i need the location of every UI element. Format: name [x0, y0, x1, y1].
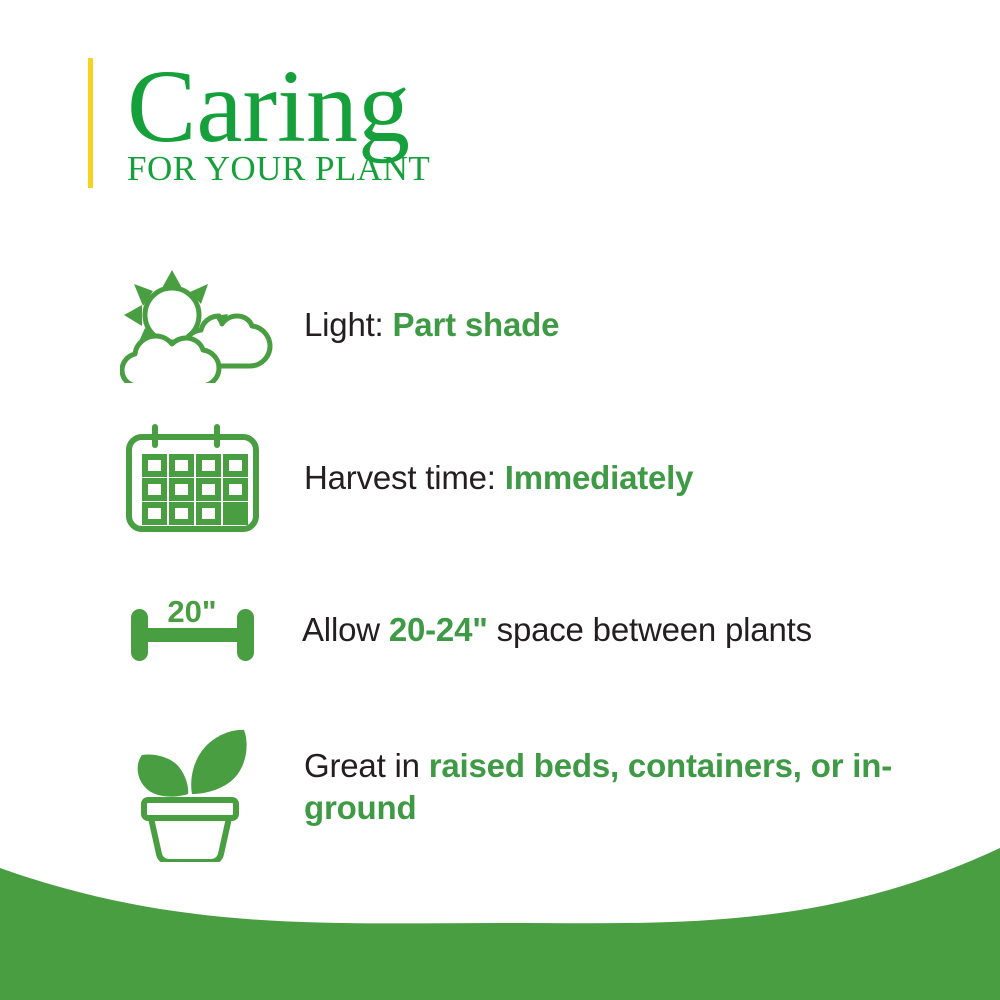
care-row-harvest: Harvest time: Immediately: [120, 423, 693, 533]
care-row-light: Light: Part shade: [120, 268, 559, 383]
calendar-highlighted-day: [226, 505, 245, 522]
light-label: Light:: [304, 306, 393, 343]
header: Caring FOR YOUR PLANT: [88, 58, 430, 188]
care-row-spacing-text: Allow 20-24" space between plants: [302, 609, 812, 651]
care-row-harvest-text: Harvest time: Immediately: [304, 457, 693, 499]
accent-bar: [88, 58, 93, 188]
care-row-spacing: 20" Allow 20-24" space between plants: [120, 590, 812, 670]
location-prefix: Great in: [304, 747, 429, 784]
header-text: Caring FOR YOUR PLANT: [127, 58, 430, 188]
harvest-value: Immediately: [505, 459, 694, 496]
infographic-page: Caring FOR YOUR PLANT: [0, 0, 1000, 1000]
page-title: Caring: [127, 58, 430, 157]
spacing-icon-label: 20": [167, 594, 216, 629]
light-value: Part shade: [393, 306, 560, 343]
sun-behind-cloud-icon: [120, 268, 280, 383]
harvest-label: Harvest time:: [304, 459, 505, 496]
spacing-value: 20-24": [389, 611, 488, 648]
care-row-location-text: Great in raised beds, containers, or in-…: [304, 745, 904, 829]
bottom-green-band: [0, 820, 1000, 1000]
spacing-suffix: space between plants: [488, 611, 812, 648]
spacing-prefix: Allow: [302, 611, 389, 648]
calendar-icon: [120, 423, 280, 533]
care-row-light-text: Light: Part shade: [304, 304, 559, 346]
page-subtitle: FOR YOUR PLANT: [127, 151, 430, 186]
spacing-measure-icon: 20": [120, 590, 280, 670]
